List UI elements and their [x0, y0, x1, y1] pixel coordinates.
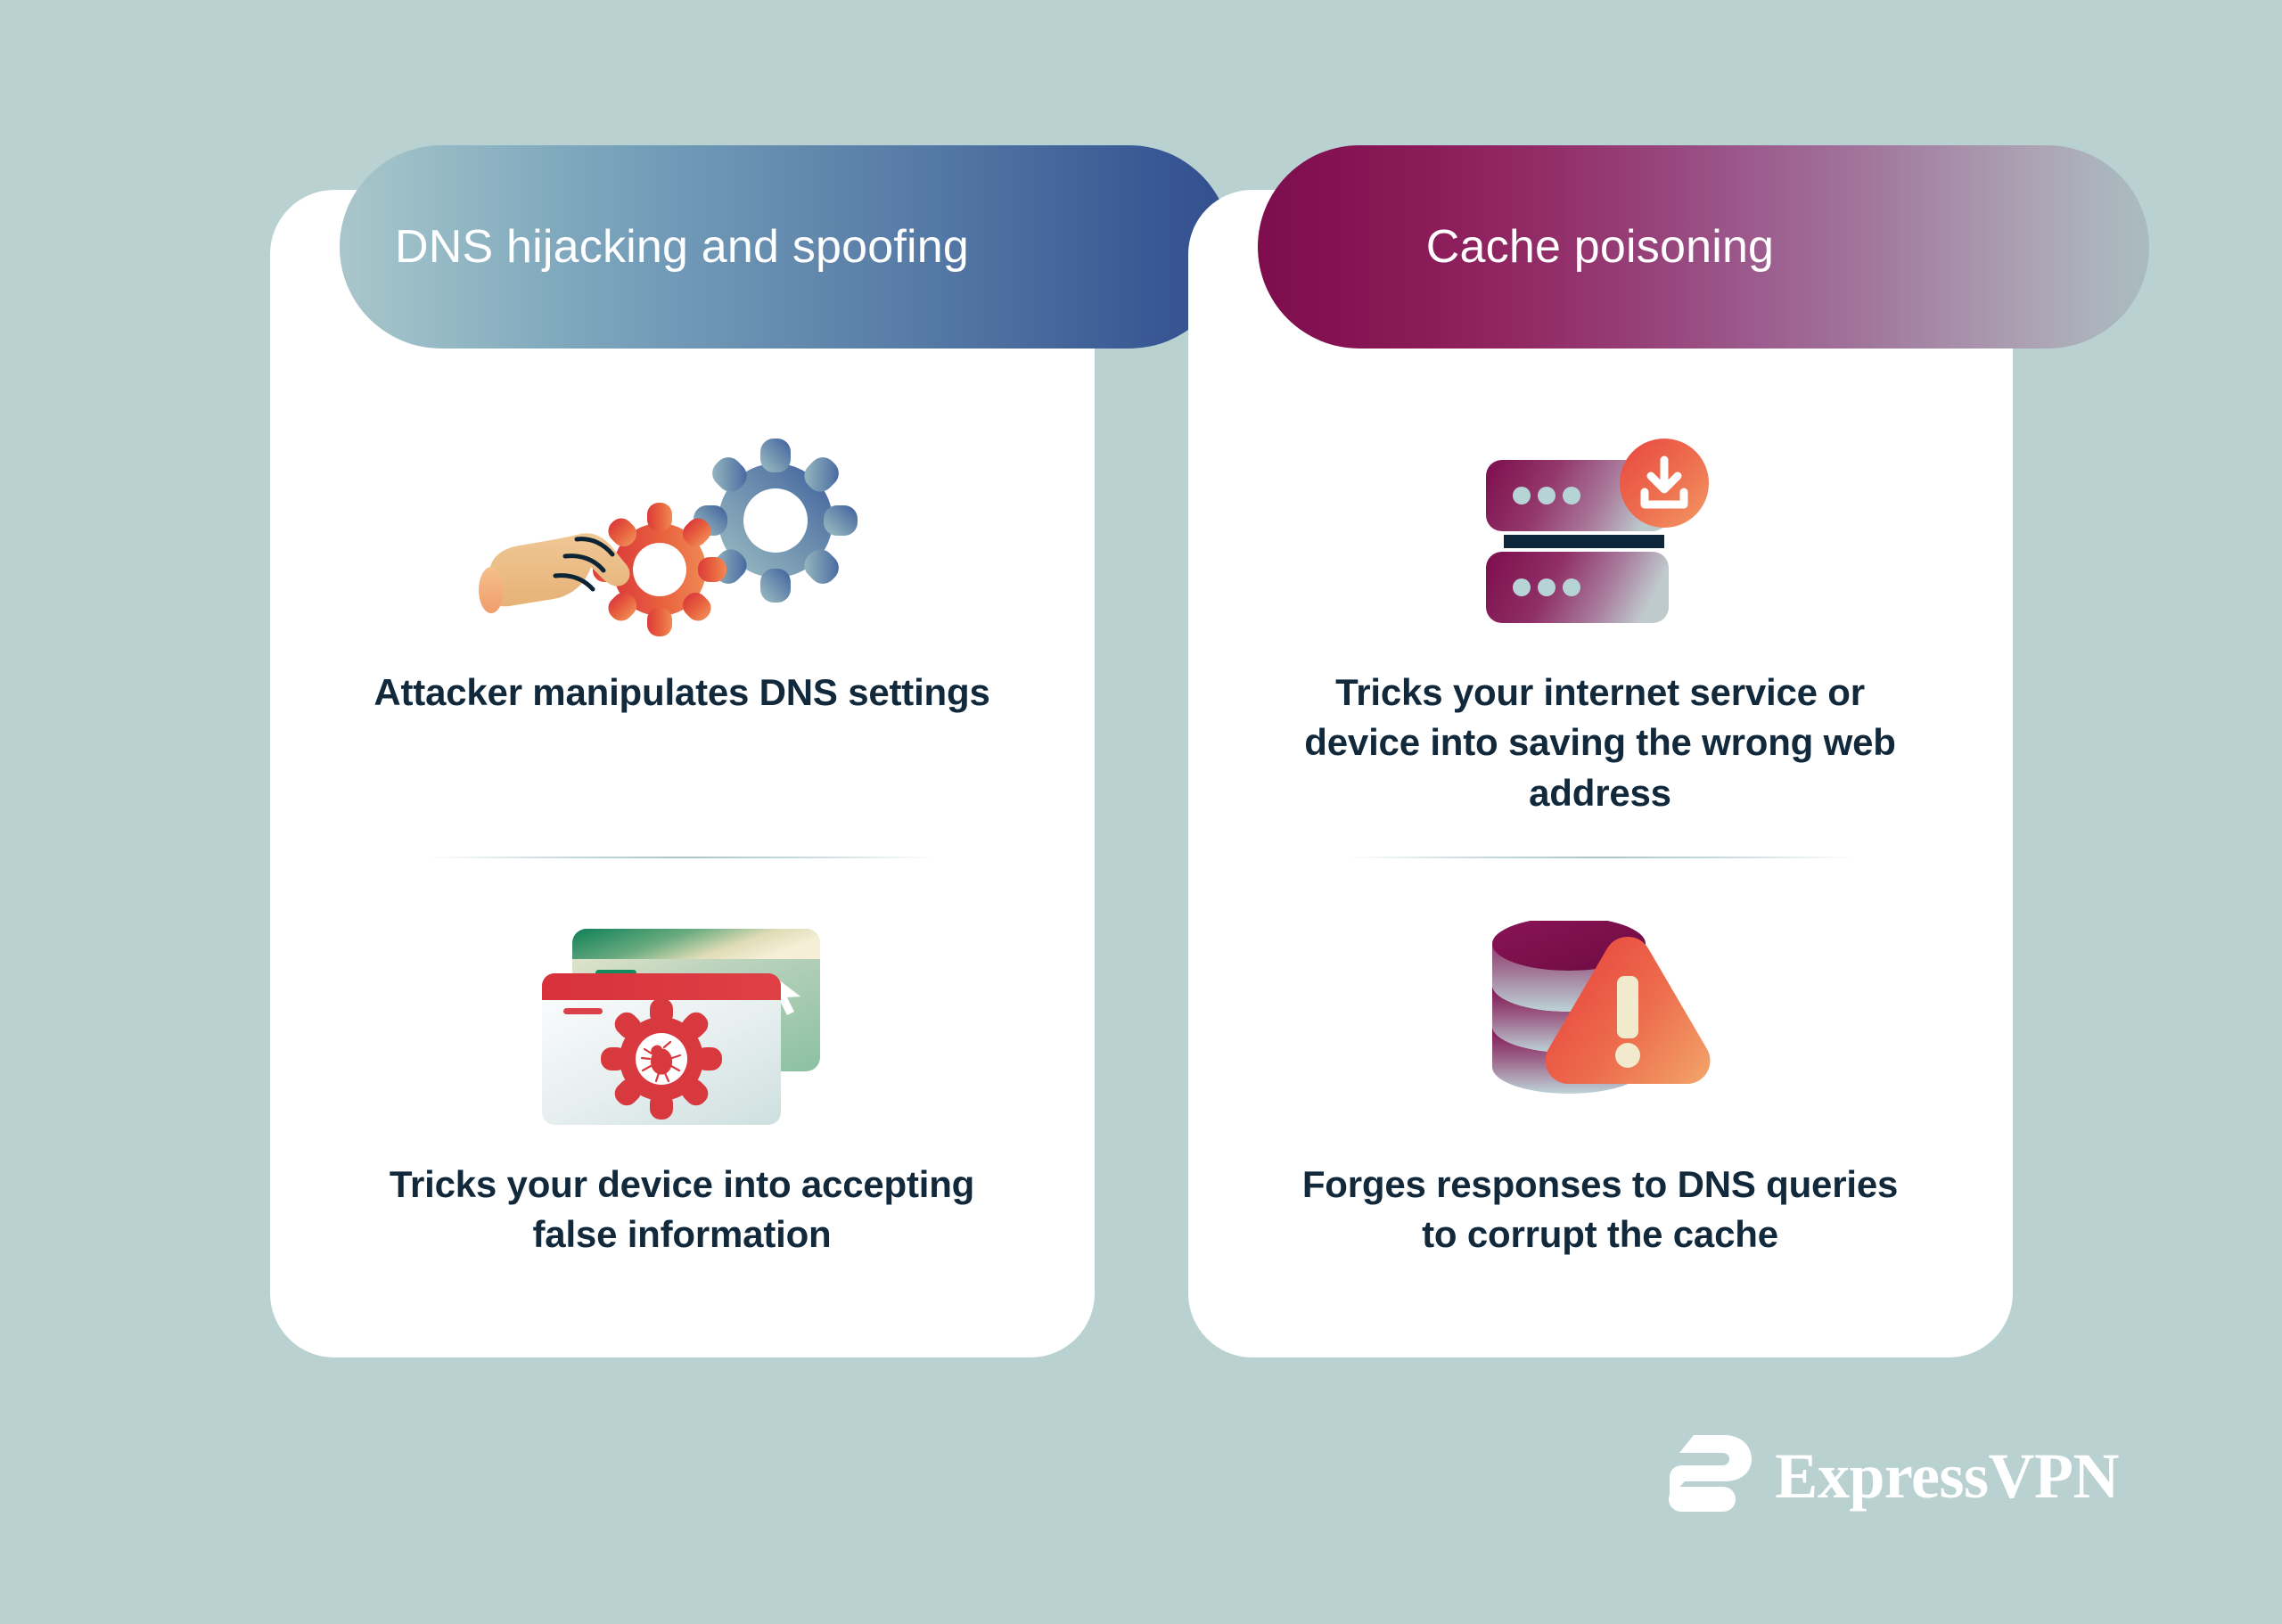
expressvpn-logo: ExpressVPN	[1662, 1430, 2119, 1521]
card-body: Tricks your internet service or device i…	[1188, 190, 2013, 1357]
card-body: Attacker manipulates DNS settings	[270, 190, 1095, 1357]
card-section: Tricks your internet service or device i…	[1188, 420, 2013, 818]
card-section: Attacker manipulates DNS settings	[270, 420, 1095, 718]
expressvpn-wordmark: ExpressVPN	[1775, 1444, 2119, 1508]
card-section: Forges responses to DNS queries to corru…	[1188, 912, 2013, 1260]
card-cache-poisoning: Tricks your internet service or device i…	[1188, 145, 2013, 1357]
card-dns-hijacking-spoofing: Attacker manipulates DNS settings	[270, 145, 1095, 1357]
section-caption: Forges responses to DNS queries to corru…	[1288, 1160, 1912, 1260]
server-download-icon	[1466, 420, 1734, 643]
section-caption: Tricks your device into accepting false …	[370, 1160, 994, 1260]
section-divider	[1347, 857, 1855, 858]
cards-row: Attacker manipulates DNS settings	[0, 145, 2282, 1357]
card-title: Cache poisoning	[1258, 220, 2013, 274]
section-caption: Tricks your internet service or device i…	[1288, 668, 1912, 818]
card-header: Cache poisoning	[1258, 145, 2149, 349]
section-divider	[429, 857, 937, 858]
section-caption: Attacker manipulates DNS settings	[370, 668, 994, 718]
browser-window-bug-gear-icon	[535, 912, 829, 1135]
hand-turning-gears-icon	[477, 420, 887, 643]
card-title: DNS hijacking and spoofing	[340, 220, 1095, 274]
database-warning-icon	[1471, 912, 1729, 1135]
expressvpn-e-mark-icon	[1662, 1430, 1755, 1521]
card-header: DNS hijacking and spoofing	[340, 145, 1231, 349]
card-section: Tricks your device into accepting false …	[270, 912, 1095, 1260]
